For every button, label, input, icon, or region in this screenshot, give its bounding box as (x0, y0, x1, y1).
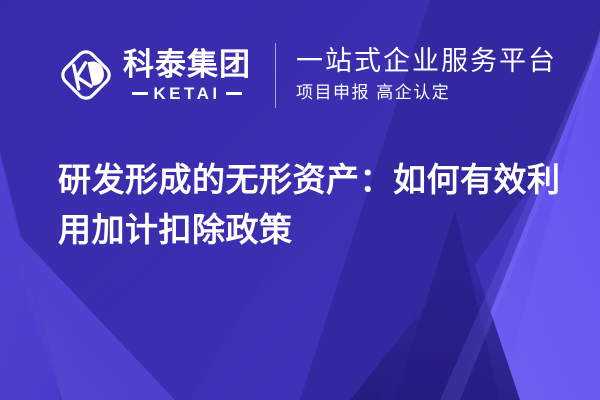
brand-name-cn: 科泰集团 (123, 49, 251, 80)
dash-icon (132, 92, 148, 95)
tagline-main: 一站式企业服务平台 (296, 46, 557, 77)
tagline: 一站式企业服务平台 项目申报 高企认定 (296, 46, 557, 103)
brand-name-en: KETAI (153, 85, 220, 102)
vertical-divider-icon (275, 43, 276, 108)
banner-header: 科泰集团 KETAI 一站式企业服务平台 项目申报 高企认定 (0, 0, 600, 150)
brand-logo[interactable]: 科泰集团 KETAI (58, 47, 251, 103)
promo-banner: 科泰集团 KETAI 一站式企业服务平台 项目申报 高企认定 研发形成的无形资产… (0, 0, 600, 400)
ketai-diamond-monogram-icon (58, 47, 114, 103)
page-title: 研发形成的无形资产：如何有效利用加计扣除政策 (58, 155, 563, 255)
brand-wordmark: 科泰集团 KETAI (123, 49, 251, 102)
tagline-sub: 项目申报 高企认定 (296, 83, 557, 103)
brand-en-row: KETAI (123, 85, 251, 102)
dash-icon (226, 92, 242, 95)
